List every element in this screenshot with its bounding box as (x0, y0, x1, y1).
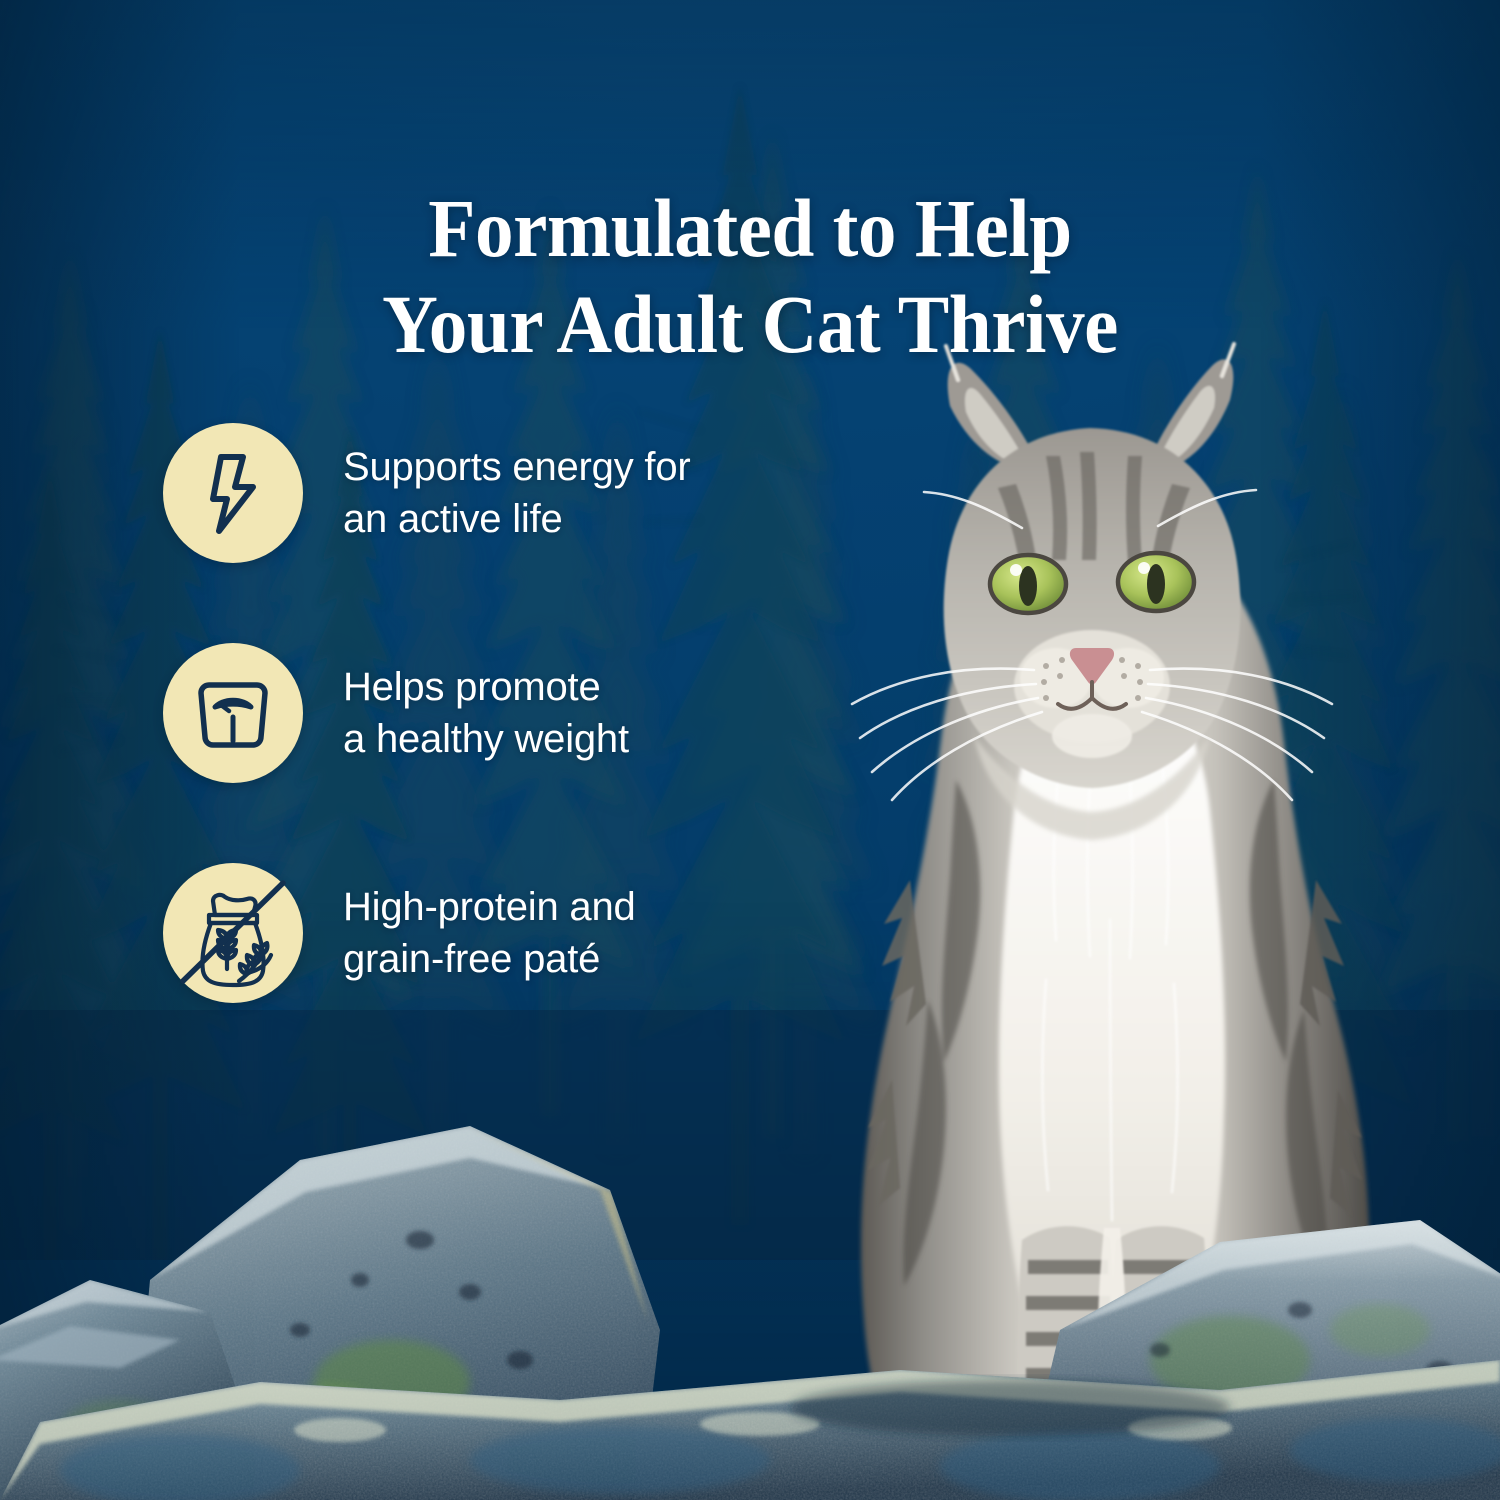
rock-foreground (0, 1030, 1500, 1500)
feature-icon-badge (163, 863, 303, 1003)
feature-list: Supports energy for an active life Helps… (163, 423, 803, 1003)
page-title: Formulated to Help Your Adult Cat Thrive (53, 180, 1448, 373)
feature-item-energy: Supports energy for an active life (163, 423, 803, 563)
feature-text-grain-free: High-protein and grain-free paté (343, 881, 636, 985)
feature-text-weight: Helps promote a healthy weight (343, 661, 629, 765)
feature-text-energy: Supports energy for an active life (343, 441, 691, 545)
lightning-bolt-icon (187, 447, 279, 539)
feature-item-weight: Helps promote a healthy weight (163, 643, 803, 783)
feature-item-grain-free: High-protein and grain-free paté (163, 863, 803, 1003)
product-feature-banner: Formulated to Help Your Adult Cat Thrive… (0, 0, 1500, 1500)
feature-icon-badge (163, 423, 303, 563)
feature-icon-badge (163, 643, 303, 783)
bathroom-scale-icon (187, 667, 279, 759)
no-grain-sack-icon (177, 877, 289, 989)
